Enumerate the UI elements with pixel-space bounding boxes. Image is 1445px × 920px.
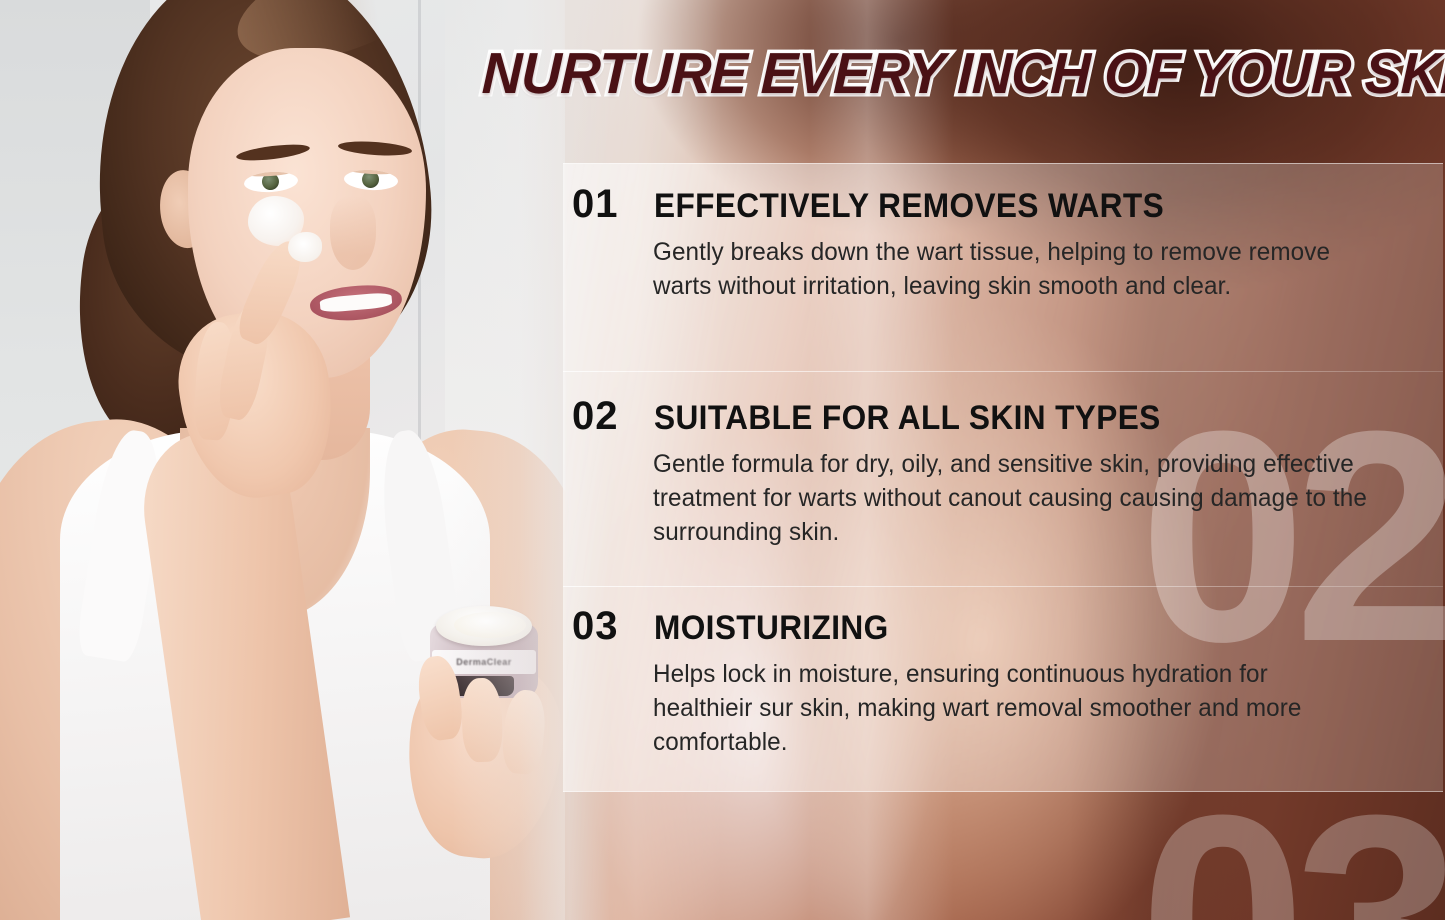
photo-edge-softening [0, 0, 565, 920]
feature-1-number: 01 [572, 184, 630, 224]
feature-item-1: 01 EFFECTIVELY REMOVES WARTS Gently brea… [572, 184, 1438, 303]
feature-3-number: 03 [572, 606, 630, 646]
feature-3-header: 03 MOISTURIZING [572, 606, 1438, 647]
feature-item-2: 02 SUITABLE FOR ALL SKIN TYPES Gentle fo… [572, 396, 1438, 549]
promo-banner: DermaClear NURTURE EVERY INCH OF YOUR SK… [0, 0, 1445, 920]
feature-2-number: 02 [572, 396, 630, 436]
page-title: NURTURE EVERY INCH OF YOUR SKIN! [481, 40, 1395, 112]
model-photo: DermaClear [0, 0, 565, 920]
feature-item-3: 03 MOISTURIZING Helps lock in moisture, … [572, 606, 1438, 759]
feature-1-title: EFFECTIVELY REMOVES WARTS [654, 187, 1164, 225]
divider-1 [563, 371, 1443, 372]
feature-3-body: Helps lock in moisture, ensuring continu… [653, 657, 1371, 759]
feature-2-header: 02 SUITABLE FOR ALL SKIN TYPES [572, 396, 1438, 437]
feature-1-header: 01 EFFECTIVELY REMOVES WARTS [572, 184, 1438, 225]
divider-2 [563, 586, 1443, 587]
feature-2-body: Gentle formula for dry, oily, and sensit… [653, 447, 1371, 549]
feature-1-body: Gently breaks down the wart tissue, help… [653, 235, 1371, 303]
feature-2-title: SUITABLE FOR ALL SKIN TYPES [654, 399, 1161, 437]
feature-3-title: MOISTURIZING [654, 609, 889, 647]
feature-panel: 02 03 01 EFFECTIVELY REMOVES WARTS Gentl… [563, 163, 1443, 792]
